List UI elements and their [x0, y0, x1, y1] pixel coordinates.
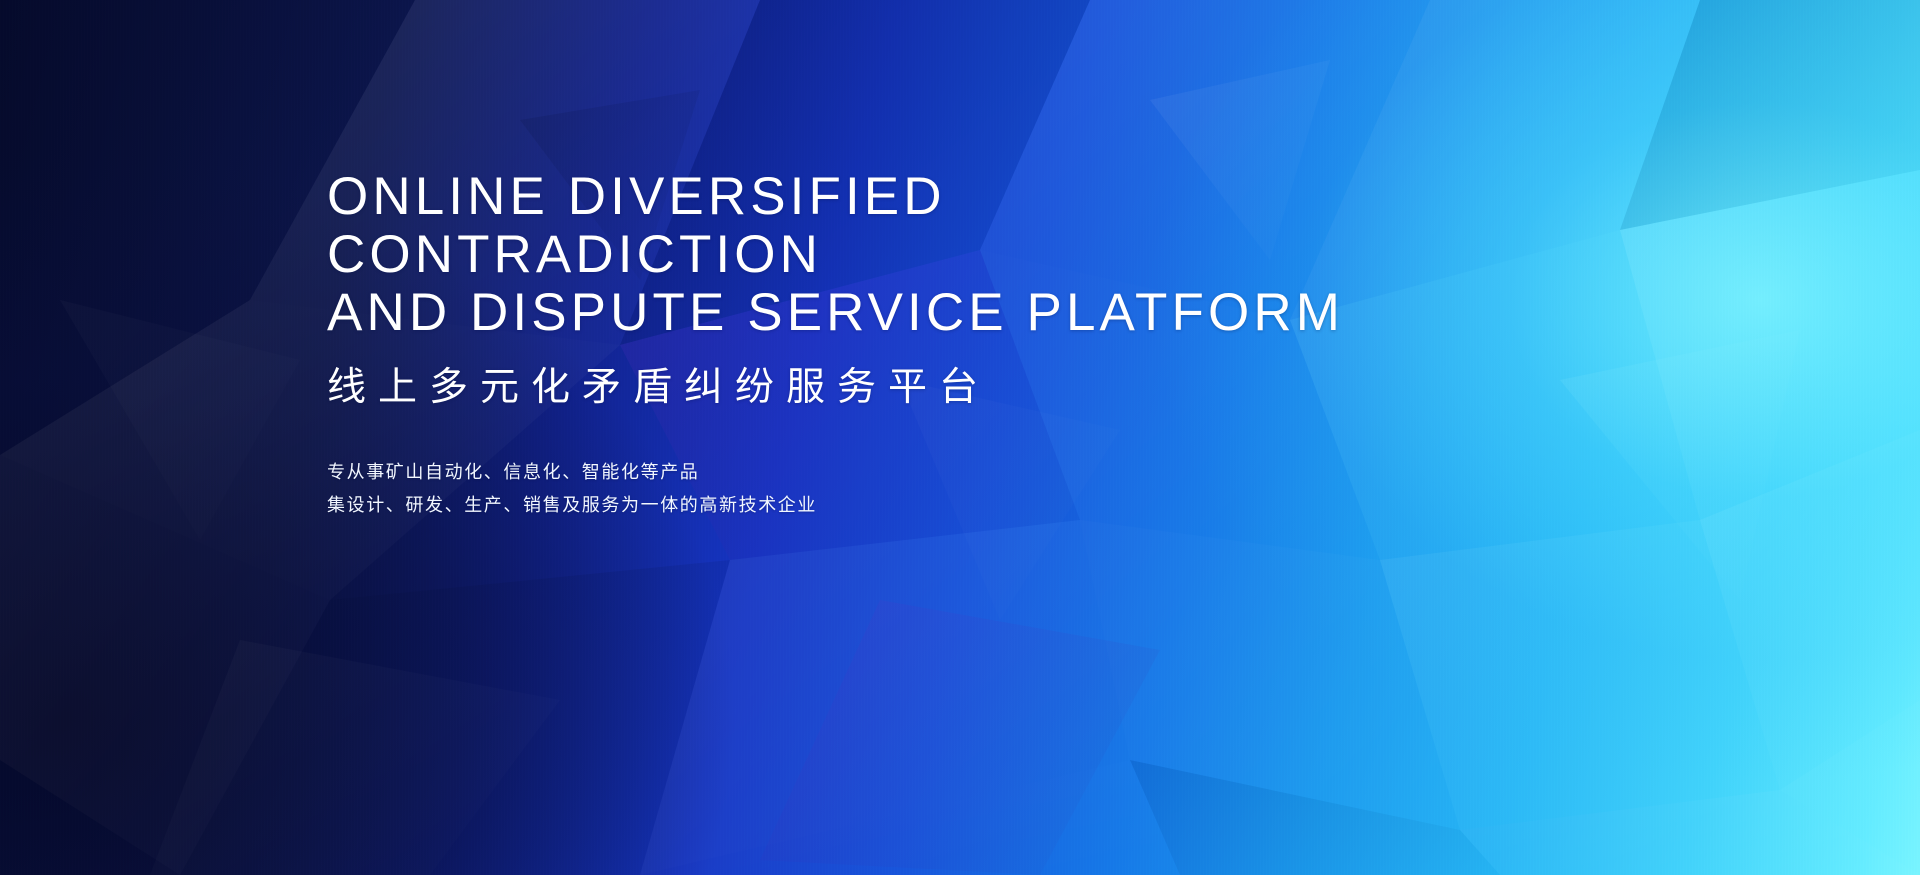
hero-content: ONLINE DIVERSIFIED CONTRADICTION AND DIS… — [327, 168, 1427, 522]
hero-banner: ONLINE DIVERSIFIED CONTRADICTION AND DIS… — [0, 0, 1920, 875]
description-list: 专从事矿山自动化、信息化、智能化等产品 集设计、研发、生产、销售及服务为一体的高… — [327, 456, 1427, 522]
description-line: 专从事矿山自动化、信息化、智能化等产品 — [327, 456, 1427, 489]
page-title: ONLINE DIVERSIFIED CONTRADICTION AND DIS… — [327, 168, 1427, 342]
facet-group-bottom — [0, 600, 1920, 875]
page-subtitle: 线上多元化矛盾纠纷服务平台 — [327, 364, 1427, 412]
description-line: 集设计、研发、生产、销售及服务为一体的高新技术企业 — [327, 489, 1427, 522]
